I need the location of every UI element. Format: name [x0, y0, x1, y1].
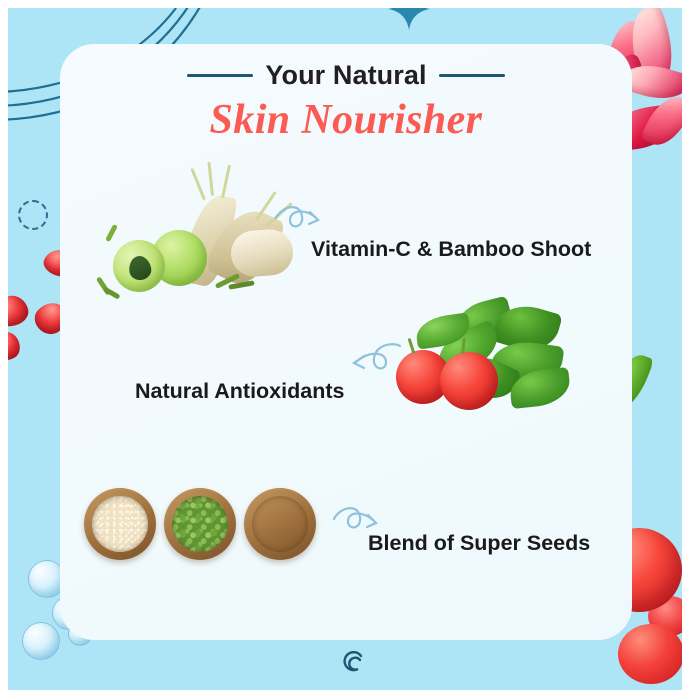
spiral-glyph-icon [340, 650, 370, 680]
water-bubble [22, 622, 60, 660]
acerola-spinach-illustration [392, 300, 574, 418]
dashed-circle-icon [18, 200, 48, 230]
quinoa-seeds-bowl [84, 488, 156, 560]
mixed-seeds-bowl [244, 488, 316, 560]
seed-bowls-illustration [84, 488, 316, 572]
kicker-rule-right [439, 74, 505, 77]
feature-label-vitamin-c: Vitamin-C & Bamboo Shoot [311, 237, 591, 262]
curly-arrow-left-icon [342, 336, 404, 382]
frame-edge-left [0, 0, 8, 700]
frame-edge-bottom [0, 690, 690, 700]
feature-label-antioxidants: Natural Antioxidants [135, 379, 344, 404]
curly-arrow-right-icon [272, 192, 330, 238]
frame-edge-top [0, 0, 690, 8]
cherry-right-lower-icon [618, 624, 684, 684]
amla-bamboo-shoot-illustration [105, 172, 295, 297]
pumpkin-seeds-bowl [164, 488, 236, 560]
title-block: Your Natural Skin Nourisher [60, 60, 632, 144]
page-title: Skin Nourisher [60, 96, 632, 144]
kicker-rule-left [187, 74, 253, 77]
frame-edge-right [682, 0, 690, 700]
kicker-text: Your Natural [265, 60, 426, 91]
kicker-row: Your Natural [60, 60, 632, 91]
poster-canvas: Your Natural Skin Nourisher Vitamin-C & … [0, 0, 690, 700]
feature-label-super-seeds: Blend of Super Seeds [368, 531, 590, 556]
